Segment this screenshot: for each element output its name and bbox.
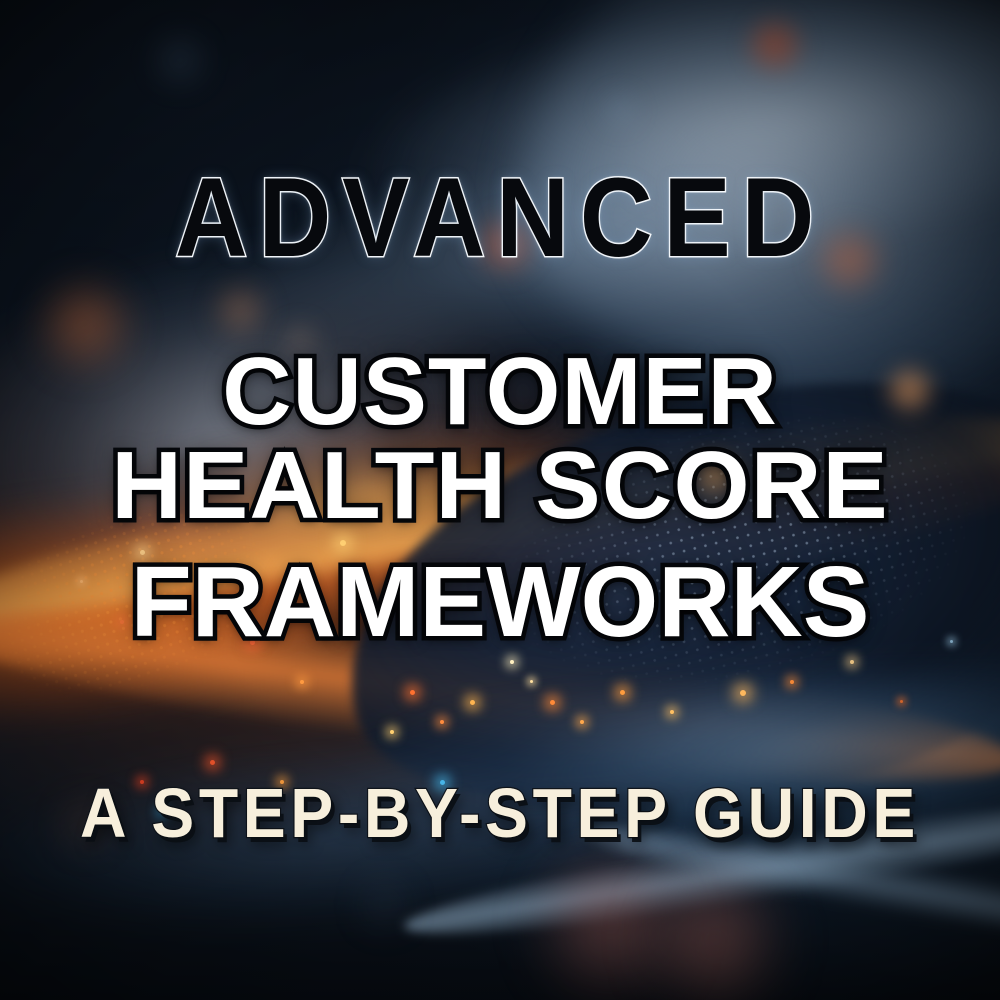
title-line-health-score: HEALTH SCORE xyxy=(0,438,1000,534)
title-line-customer: CUSTOMER xyxy=(0,344,1000,440)
ebook-cover-poster: ADVANCED CUSTOMER HEALTH SCORE FRAMEWORK… xyxy=(0,0,1000,1000)
cover-text-content: ADVANCED CUSTOMER HEALTH SCORE FRAMEWORK… xyxy=(0,0,1000,1000)
subtitle-step-by-step-guide: A STEP-BY-STEP GUIDE xyxy=(40,778,960,848)
eyebrow-advanced: ADVANCED xyxy=(50,162,950,274)
title-line-frameworks: FRAMEWORKS xyxy=(0,552,1000,652)
